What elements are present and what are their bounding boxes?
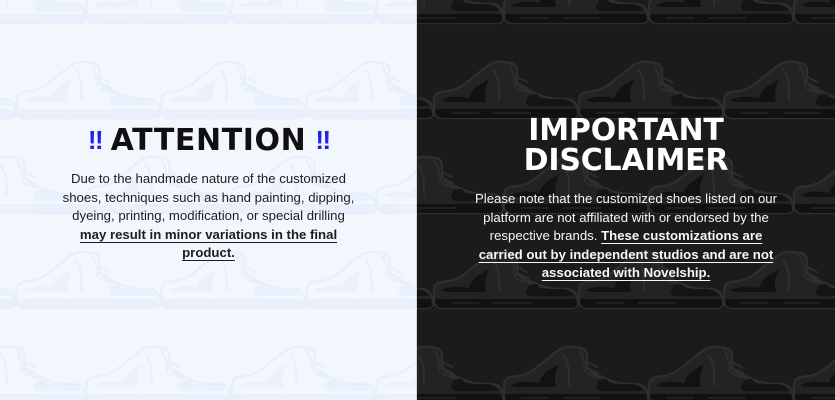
panel-divider [416, 0, 417, 400]
disclaimer-heading-line-1: IMPORTANT [524, 116, 729, 146]
disclaimer-panel: IMPORTANTDISCLAIMER Please note that the… [417, 0, 835, 400]
double-exclamation-icon-right: ‼ [315, 125, 329, 155]
disclaimer-heading: IMPORTANTDISCLAIMER [524, 116, 729, 176]
disclaimer-content: IMPORTANTDISCLAIMER Please note that the… [417, 0, 835, 283]
disclaimer-heading-line-2: DISCLAIMER [524, 146, 729, 176]
attention-content: ‼ATTENTION‼ Due to the handmade nature o… [0, 0, 417, 263]
double-exclamation-icon-left: ‼ [88, 125, 102, 155]
disclaimer-body-text: Please note that the customized shoes li… [467, 190, 785, 283]
attention-body-normal: Due to the handmade nature of the custom… [63, 171, 355, 223]
split-banner: ‼ATTENTION‼ Due to the handmade nature o… [0, 0, 835, 400]
attention-heading: ‼ATTENTION‼ [88, 126, 329, 156]
attention-heading-word: ATTENTION [111, 123, 307, 158]
attention-body-text: Due to the handmade nature of the custom… [58, 170, 360, 263]
attention-body-emphasis: may result in minor variations in the fi… [80, 227, 337, 261]
attention-panel: ‼ATTENTION‼ Due to the handmade nature o… [0, 0, 417, 400]
